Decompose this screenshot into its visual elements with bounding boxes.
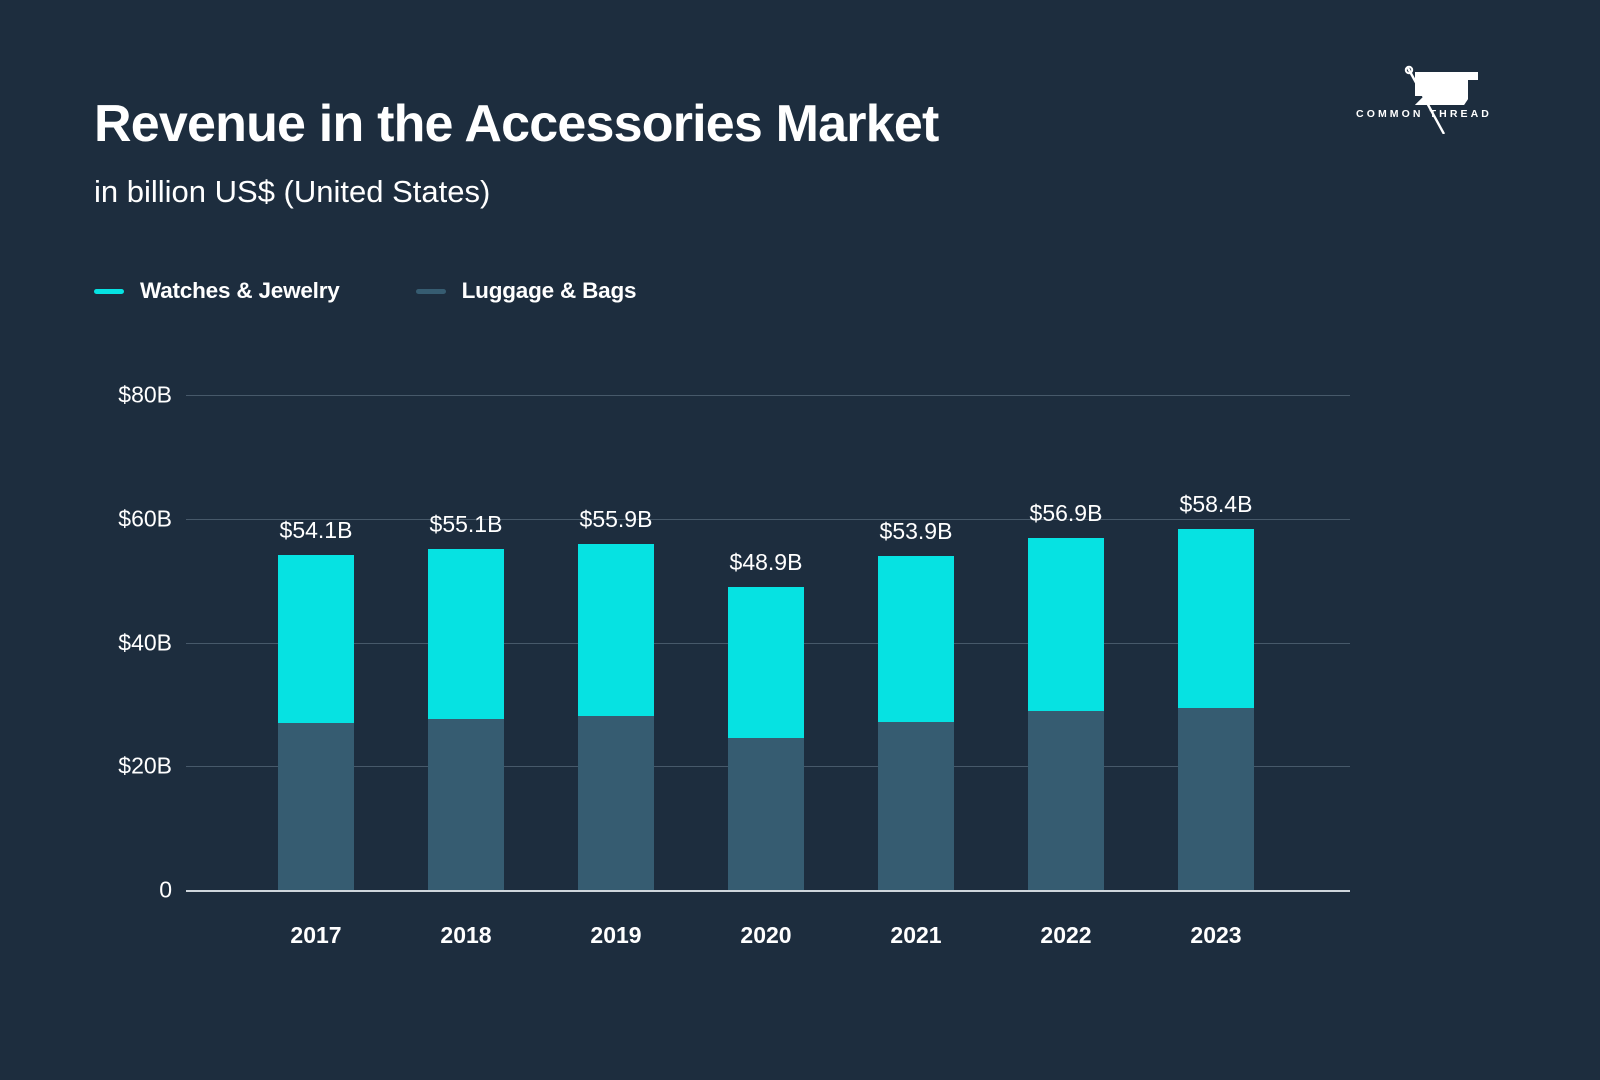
bar-chart-plot: 0$20B$40B$60B$80B$54.1B2017$55.1B2018$55…	[0, 0, 1600, 1080]
bar-group-2022[interactable]: $56.9B2022	[1028, 0, 1104, 1080]
x-axis-category-label: 2020	[740, 922, 791, 949]
x-axis-category-label: 2018	[440, 922, 491, 949]
bar-segment[interactable]	[428, 719, 504, 890]
x-axis-category-label: 2022	[1040, 922, 1091, 949]
bar-value-label: $56.9B	[1030, 500, 1103, 527]
bar-value-label: $48.9B	[730, 549, 803, 576]
bar-group-2018[interactable]: $55.1B2018	[428, 0, 504, 1080]
bar-segment[interactable]	[1178, 708, 1254, 890]
x-axis-category-label: 2021	[890, 922, 941, 949]
bar-segment[interactable]	[578, 544, 654, 715]
bar-value-label: $58.4B	[1180, 491, 1253, 518]
bar-segment[interactable]	[728, 738, 804, 890]
bar-group-2017[interactable]: $54.1B2017	[278, 0, 354, 1080]
bar-segment[interactable]	[878, 722, 954, 890]
y-axis-tick-label: $40B	[118, 629, 172, 656]
bar-value-label: $53.9B	[880, 518, 953, 545]
bar-segment[interactable]	[428, 549, 504, 719]
bar-group-2019[interactable]: $55.9B2019	[578, 0, 654, 1080]
bar-value-label: $55.9B	[580, 506, 653, 533]
bar-segment[interactable]	[1028, 711, 1104, 890]
bar-group-2023[interactable]: $58.4B2023	[1178, 0, 1254, 1080]
bar-group-2020[interactable]: $48.9B2020	[728, 0, 804, 1080]
x-axis-category-label: 2019	[590, 922, 641, 949]
y-axis-tick-label: $60B	[118, 505, 172, 532]
bar-segment[interactable]	[578, 716, 654, 890]
bar-segment[interactable]	[1178, 529, 1254, 708]
bar-value-label: $54.1B	[280, 517, 353, 544]
bar-segment[interactable]	[1028, 538, 1104, 711]
bar-segment[interactable]	[278, 723, 354, 890]
x-axis-category-label: 2023	[1190, 922, 1241, 949]
bar-segment[interactable]	[728, 587, 804, 738]
y-axis-tick-label: $80B	[118, 382, 172, 409]
y-axis-tick-label: 0	[159, 877, 172, 904]
bar-segment[interactable]	[278, 555, 354, 723]
bar-group-2021[interactable]: $53.9B2021	[878, 0, 954, 1080]
y-axis-tick-label: $20B	[118, 753, 172, 780]
bar-segment[interactable]	[878, 556, 954, 722]
bar-value-label: $55.1B	[430, 511, 503, 538]
x-axis-category-label: 2017	[290, 922, 341, 949]
